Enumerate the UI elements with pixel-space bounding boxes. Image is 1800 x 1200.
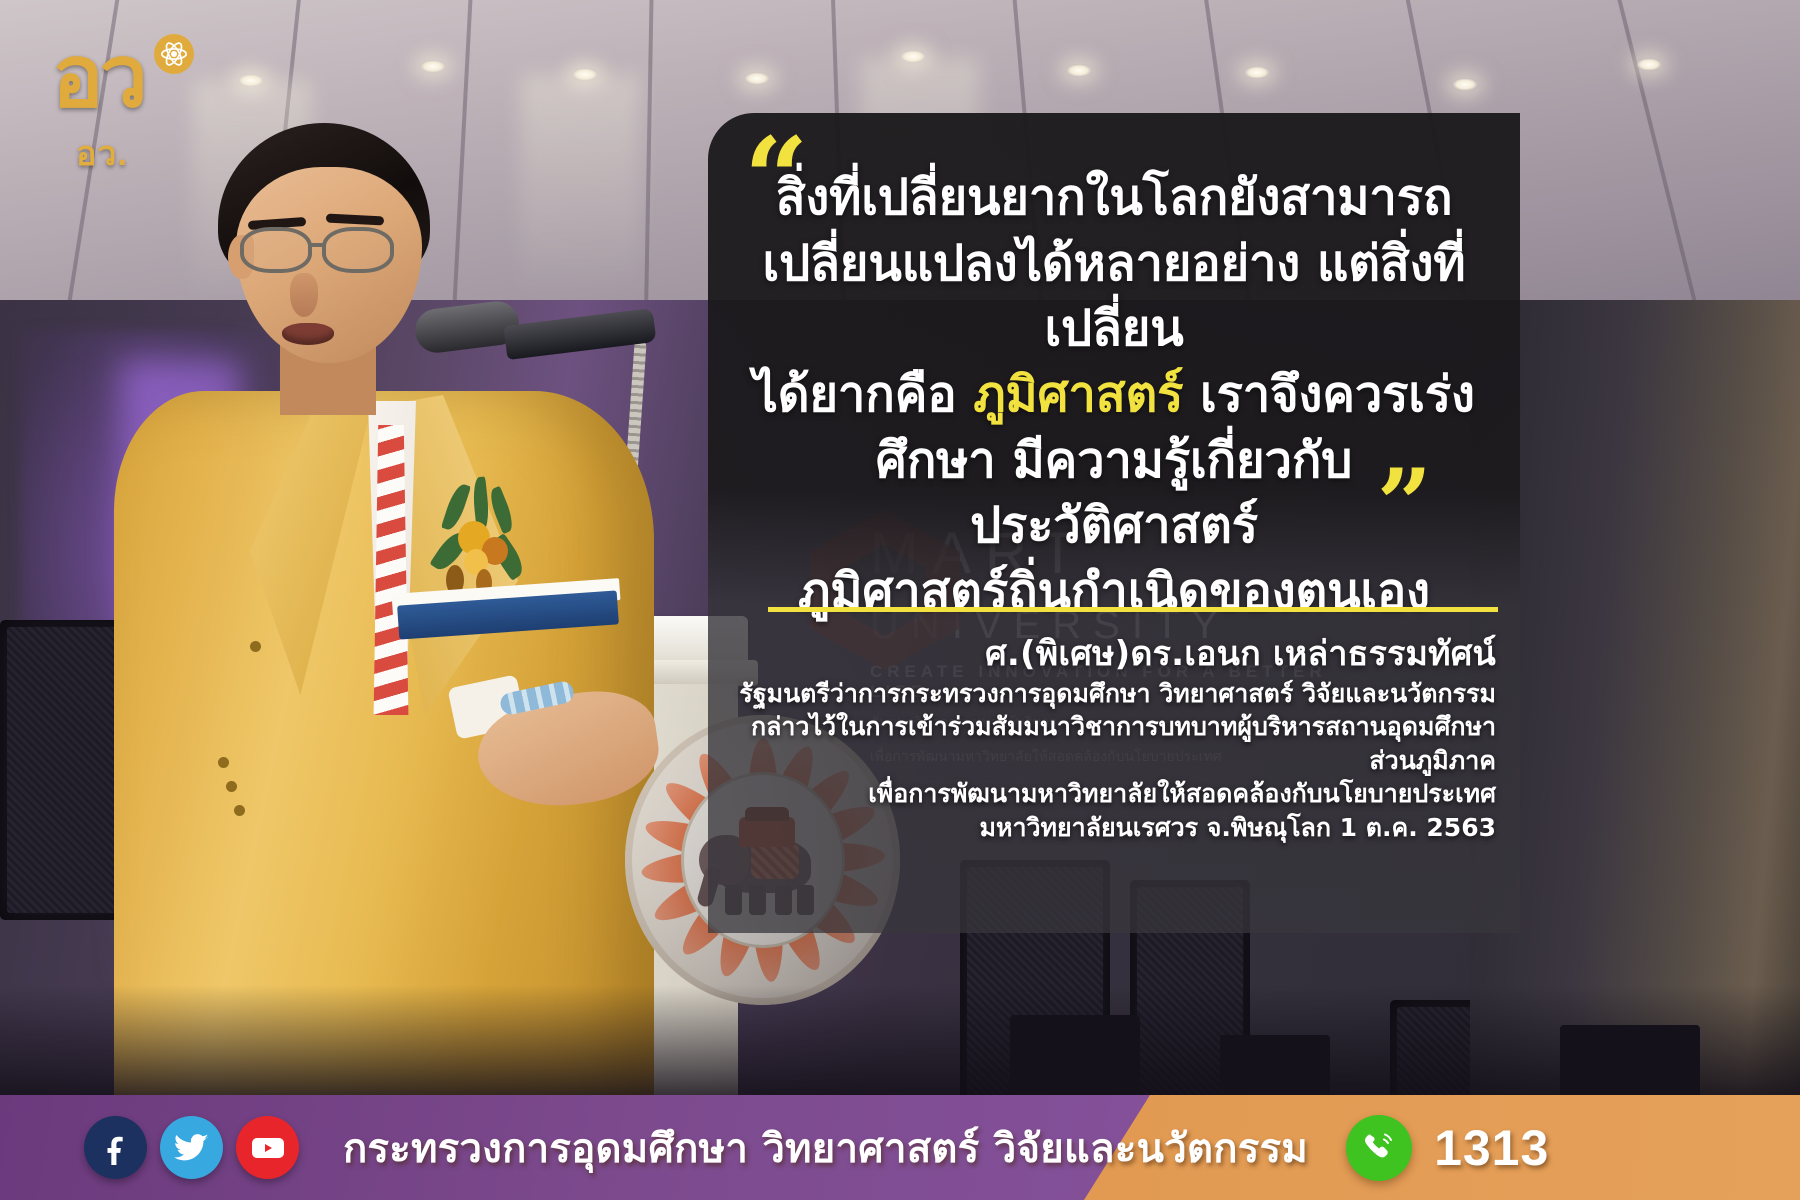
atom-icon: [154, 34, 194, 74]
nose: [290, 273, 318, 317]
twitter-icon[interactable]: [160, 1116, 223, 1179]
footer-ministry-name: กระทรวงการอุดมศึกษา วิทยาศาสตร์ วิจัยและ…: [343, 1116, 1308, 1180]
hotline: 1313: [1346, 1115, 1549, 1181]
quote-line-4: ศึกษา มีความรู้เกี่ยวกับประวัติศาสตร์: [876, 432, 1352, 555]
logo-wordmark: อว: [52, 34, 144, 120]
event-context-line: กล่าวไว้ในการเข้าร่วมสัมมนาวิชาการบทบาทผ…: [736, 710, 1496, 777]
logo-subtitle: อว.: [76, 126, 128, 180]
footer-bar: กระทรวงการอุดมศึกษา วิทยาศาสตร์ วิจัยและ…: [0, 1095, 1800, 1200]
yellow-divider-rule: [768, 607, 1498, 612]
speaker-name: ศ.(พิเศษ)ดร.เอนก เหล่าธรรมทัศน์: [736, 633, 1496, 677]
hotline-number: 1313: [1434, 1119, 1549, 1177]
quote-highlight-term: ภูมิศาสตร์: [973, 366, 1183, 423]
facebook-icon[interactable]: [84, 1116, 147, 1179]
speaker-title: รัฐมนตรีว่าการกระทรวงการอุดมศึกษา วิทยาศ…: [736, 677, 1496, 711]
quote-line-2: เปลี่ยนแปลงได้หลายอย่าง แต่สิ่งที่เปลี่ย…: [763, 235, 1466, 358]
quote-line-3-post: เราจึงควรเร่ง: [1183, 366, 1474, 423]
eyeglasses: [240, 227, 420, 275]
quote-panel: “ สิ่งที่เปลี่ยนยากในโลกยังสามารถ เปลี่ย…: [708, 113, 1520, 933]
youtube-icon[interactable]: [236, 1116, 299, 1179]
mouth-speaking: [282, 323, 334, 345]
event-purpose-line: เพื่อการพัฒนามหาวิทยาลัยให้สอดคล้องกับนโ…: [736, 777, 1496, 811]
poster-canvas: MART UNIVERSITY CREATE INNOVATION FOR A …: [0, 0, 1800, 1200]
quote-line-3-pre: ได้ยากคือ: [753, 366, 973, 423]
closing-quote-mark: ”: [1377, 481, 1432, 529]
event-venue-date: มหาวิทยาลัยนเรศวร จ.พิษณุโลก 1 ต.ค. 2563: [736, 811, 1496, 845]
quote-line-1: สิ่งที่เปลี่ยนยากในโลกยังสามารถ: [776, 169, 1453, 226]
foreground-shadow: [0, 985, 1800, 1095]
ministry-logo: อว อว.: [42, 26, 212, 166]
social-links: [84, 1116, 299, 1179]
attribution-block: ศ.(พิเศษ)ดร.เอนก เหล่าธรรมทัศน์ รัฐมนตรี…: [736, 633, 1496, 844]
phone-icon[interactable]: [1346, 1115, 1412, 1181]
